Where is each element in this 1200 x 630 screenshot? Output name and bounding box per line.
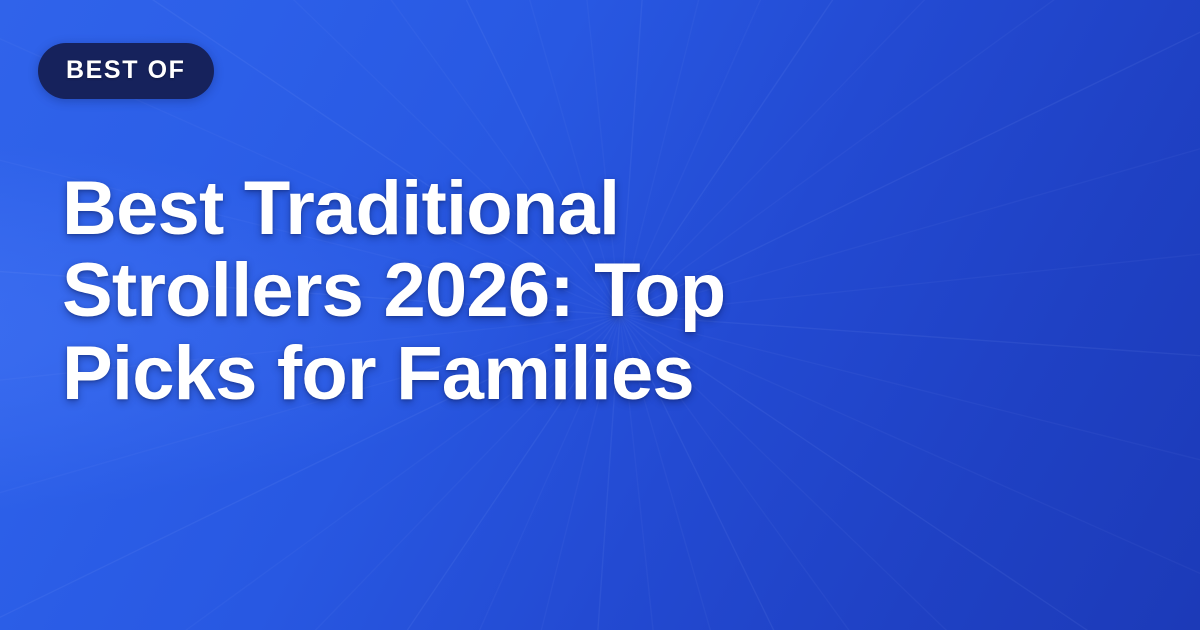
best-of-badge: BEST OF xyxy=(38,43,214,99)
headline-line-3: Picks for Families xyxy=(62,331,694,416)
banner-content: BEST OF Best Traditional Strollers 2026:… xyxy=(0,0,1200,630)
headline-line-2: Strollers 2026: Top xyxy=(62,248,725,333)
page-title: Best Traditional Strollers 2026: Top Pic… xyxy=(62,168,962,415)
headline-line-1: Best Traditional xyxy=(62,166,619,251)
banner-card: BEST OF Best Traditional Strollers 2026:… xyxy=(0,0,1200,630)
